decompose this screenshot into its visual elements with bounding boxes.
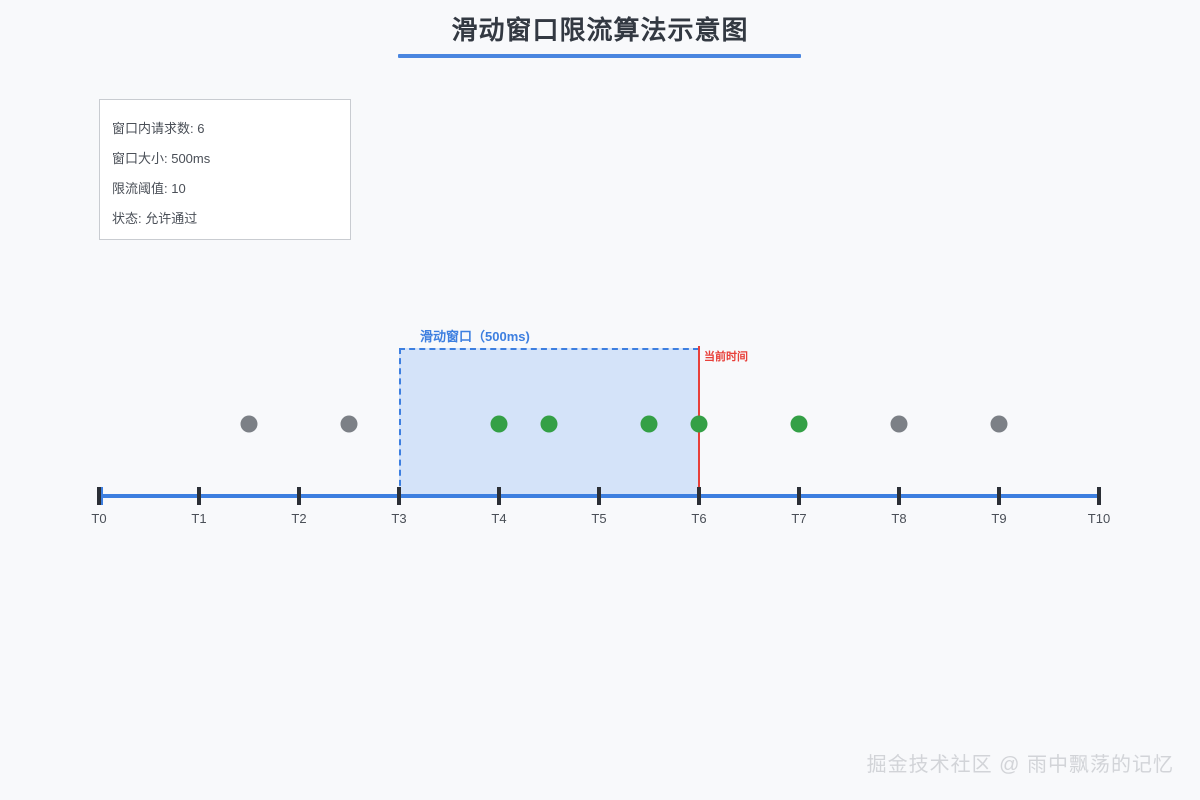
axis-tick-T10 [1097, 487, 1101, 505]
info-row-status: 状态: 允许通过 [112, 204, 350, 234]
title-block: 滑动窗口限流算法示意图 [0, 10, 1200, 50]
request-dot [341, 416, 358, 433]
request-dot [791, 416, 808, 433]
request-dot [891, 416, 908, 433]
request-dot [691, 416, 708, 433]
axis-tick-T3 [397, 487, 401, 505]
info-row-threshold: 限流阈值: 10 [112, 174, 350, 204]
axis-tick-label-T7: T7 [791, 511, 806, 526]
diagram-canvas: 滑动窗口限流算法示意图 窗口内请求数: 6 窗口大小: 500ms 限流阈值: … [0, 0, 1200, 800]
axis-tick-label-T0: T0 [91, 511, 106, 526]
axis-tick-T1 [197, 487, 201, 505]
info-panel: 窗口内请求数: 6 窗口大小: 500ms 限流阈值: 10 状态: 允许通过 [99, 99, 351, 240]
request-dot [541, 416, 558, 433]
axis-tick-T2 [297, 487, 301, 505]
axis-tick-T9 [997, 487, 1001, 505]
axis-tick-label-T9: T9 [991, 511, 1006, 526]
title-underline [398, 54, 801, 58]
axis-tick-T0 [97, 487, 101, 505]
axis-tick-label-T6: T6 [691, 511, 706, 526]
request-dot [641, 416, 658, 433]
request-dot [491, 416, 508, 433]
axis-tick-T5 [597, 487, 601, 505]
page-title: 滑动窗口限流算法示意图 [0, 10, 1200, 50]
request-dot [991, 416, 1008, 433]
axis-tick-label-T1: T1 [191, 511, 206, 526]
axis-tick-T8 [897, 487, 901, 505]
axis-tick-T4 [497, 487, 501, 505]
request-dot [241, 416, 258, 433]
axis-tick-label-T4: T4 [491, 511, 506, 526]
info-row-window-size: 窗口大小: 500ms [112, 144, 350, 174]
axis-tick-label-T3: T3 [391, 511, 406, 526]
axis-tick-T6 [697, 487, 701, 505]
axis-tick-label-T5: T5 [591, 511, 606, 526]
current-time-label: 当前时间 [704, 348, 748, 364]
axis-tick-label-T10: T10 [1088, 511, 1110, 526]
watermark: 掘金技术社区 @ 雨中飘荡的记忆 [867, 748, 1174, 777]
sliding-window-label: 滑动窗口（500ms) [420, 326, 530, 345]
info-row-request-count: 窗口内请求数: 6 [112, 114, 350, 144]
axis-tick-label-T8: T8 [891, 511, 906, 526]
axis-tick-label-T2: T2 [291, 511, 306, 526]
axis-tick-T7 [797, 487, 801, 505]
